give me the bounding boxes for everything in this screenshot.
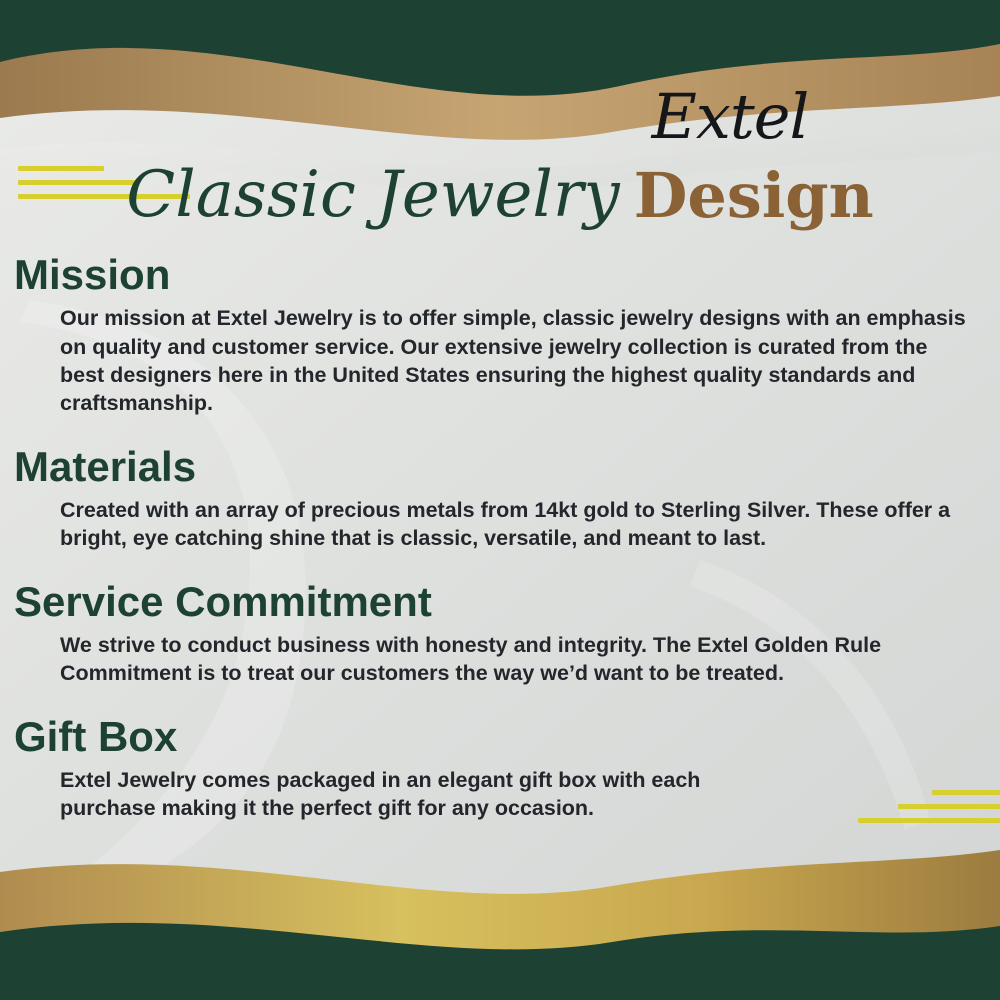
section-body: Extel Jewelry comes packaged in an elega… (0, 766, 1000, 823)
poster-canvas: Extel Classic JewelryDesign Mission Our … (0, 0, 1000, 1000)
section-materials: Materials Created with an array of preci… (0, 444, 1000, 553)
section-heading: Service Commitment (0, 579, 1000, 625)
section-heading: Mission (0, 252, 1000, 298)
section-body: We strive to conduct business with hones… (0, 631, 1000, 688)
sections-list: Mission Our mission at Extel Jewelry is … (0, 252, 1000, 829)
section-heading: Materials (0, 444, 1000, 490)
brand-logo: Extel (600, 78, 860, 158)
page-title: Classic JewelryDesign (0, 158, 1000, 248)
section-mission: Mission Our mission at Extel Jewelry is … (0, 252, 1000, 418)
page-title-main: Classic Jewelry (126, 158, 619, 232)
section-heading: Gift Box (0, 714, 1000, 760)
section-service-commitment: Service Commitment We strive to conduct … (0, 579, 1000, 688)
section-body: Our mission at Extel Jewelry is to offer… (0, 304, 1000, 418)
section-gift-box: Gift Box Extel Jewelry comes packaged in… (0, 714, 1000, 823)
page-title-accent: Design (634, 159, 874, 232)
gold-accent-lines-bottom-icon (878, 790, 1000, 832)
section-body: Created with an array of precious metals… (0, 496, 1000, 553)
